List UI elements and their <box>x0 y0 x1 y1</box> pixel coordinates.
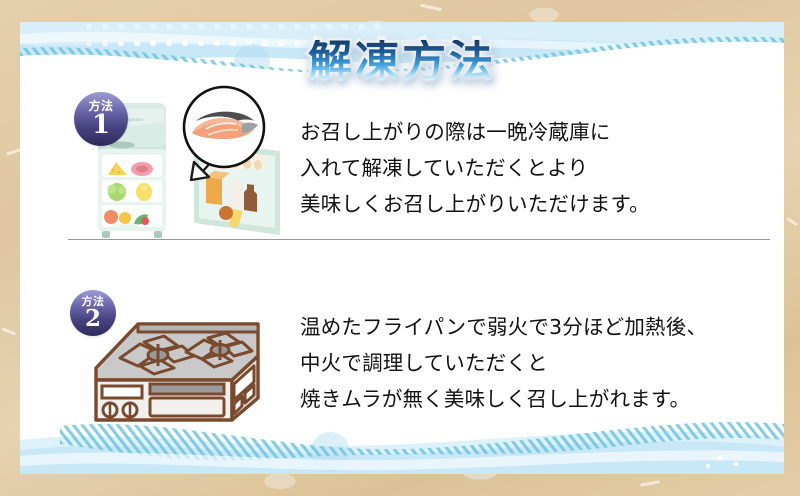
instruction-card: 解凍方法 解凍方法 方法 1 refrigerator <box>20 22 784 474</box>
method-2-line-1: 温めたフライパンで弱火で3分ほど加熱後、 <box>300 310 752 346</box>
method-1-line-2: 入れて解凍していただくとより <box>300 151 752 187</box>
texture-fleck <box>420 4 442 12</box>
method-1-badge: 方法 1 <box>74 92 128 146</box>
method-1-line-3: 美味しくお召し上がりいただけます。 <box>300 187 752 223</box>
method-1-line-1: お召し上がりの際は一晩冷蔵庫に <box>300 115 752 151</box>
method-2-line-2: 中火で調理していただくと <box>300 346 752 382</box>
method-2-text: 温めたフライパンで弱火で3分ほど加熱後、 中火で調理していただくと 焼きムラが無… <box>300 310 752 418</box>
method-2-badge: 方法 2 <box>70 290 116 336</box>
method-1-row: 方法 1 refrigerator <box>52 84 752 254</box>
page-title: 解凍方法 <box>20 40 784 84</box>
method-1-text: お召し上がりの際は一晩冷蔵庫に 入れて解凍していただくとより 美味しくお召し上が… <box>300 115 752 223</box>
texture-fleck <box>786 217 798 226</box>
texture-fleck <box>640 480 660 486</box>
texture-fleck <box>2 327 16 335</box>
section-divider <box>68 239 770 240</box>
method-2-line-3: 焼きムラが無く美味しく召し上がれます。 <box>300 382 752 418</box>
bottom-wave-decoration <box>20 416 784 474</box>
method-1-badge-number: 1 <box>92 113 110 138</box>
method-2-badge-number: 2 <box>85 308 101 330</box>
